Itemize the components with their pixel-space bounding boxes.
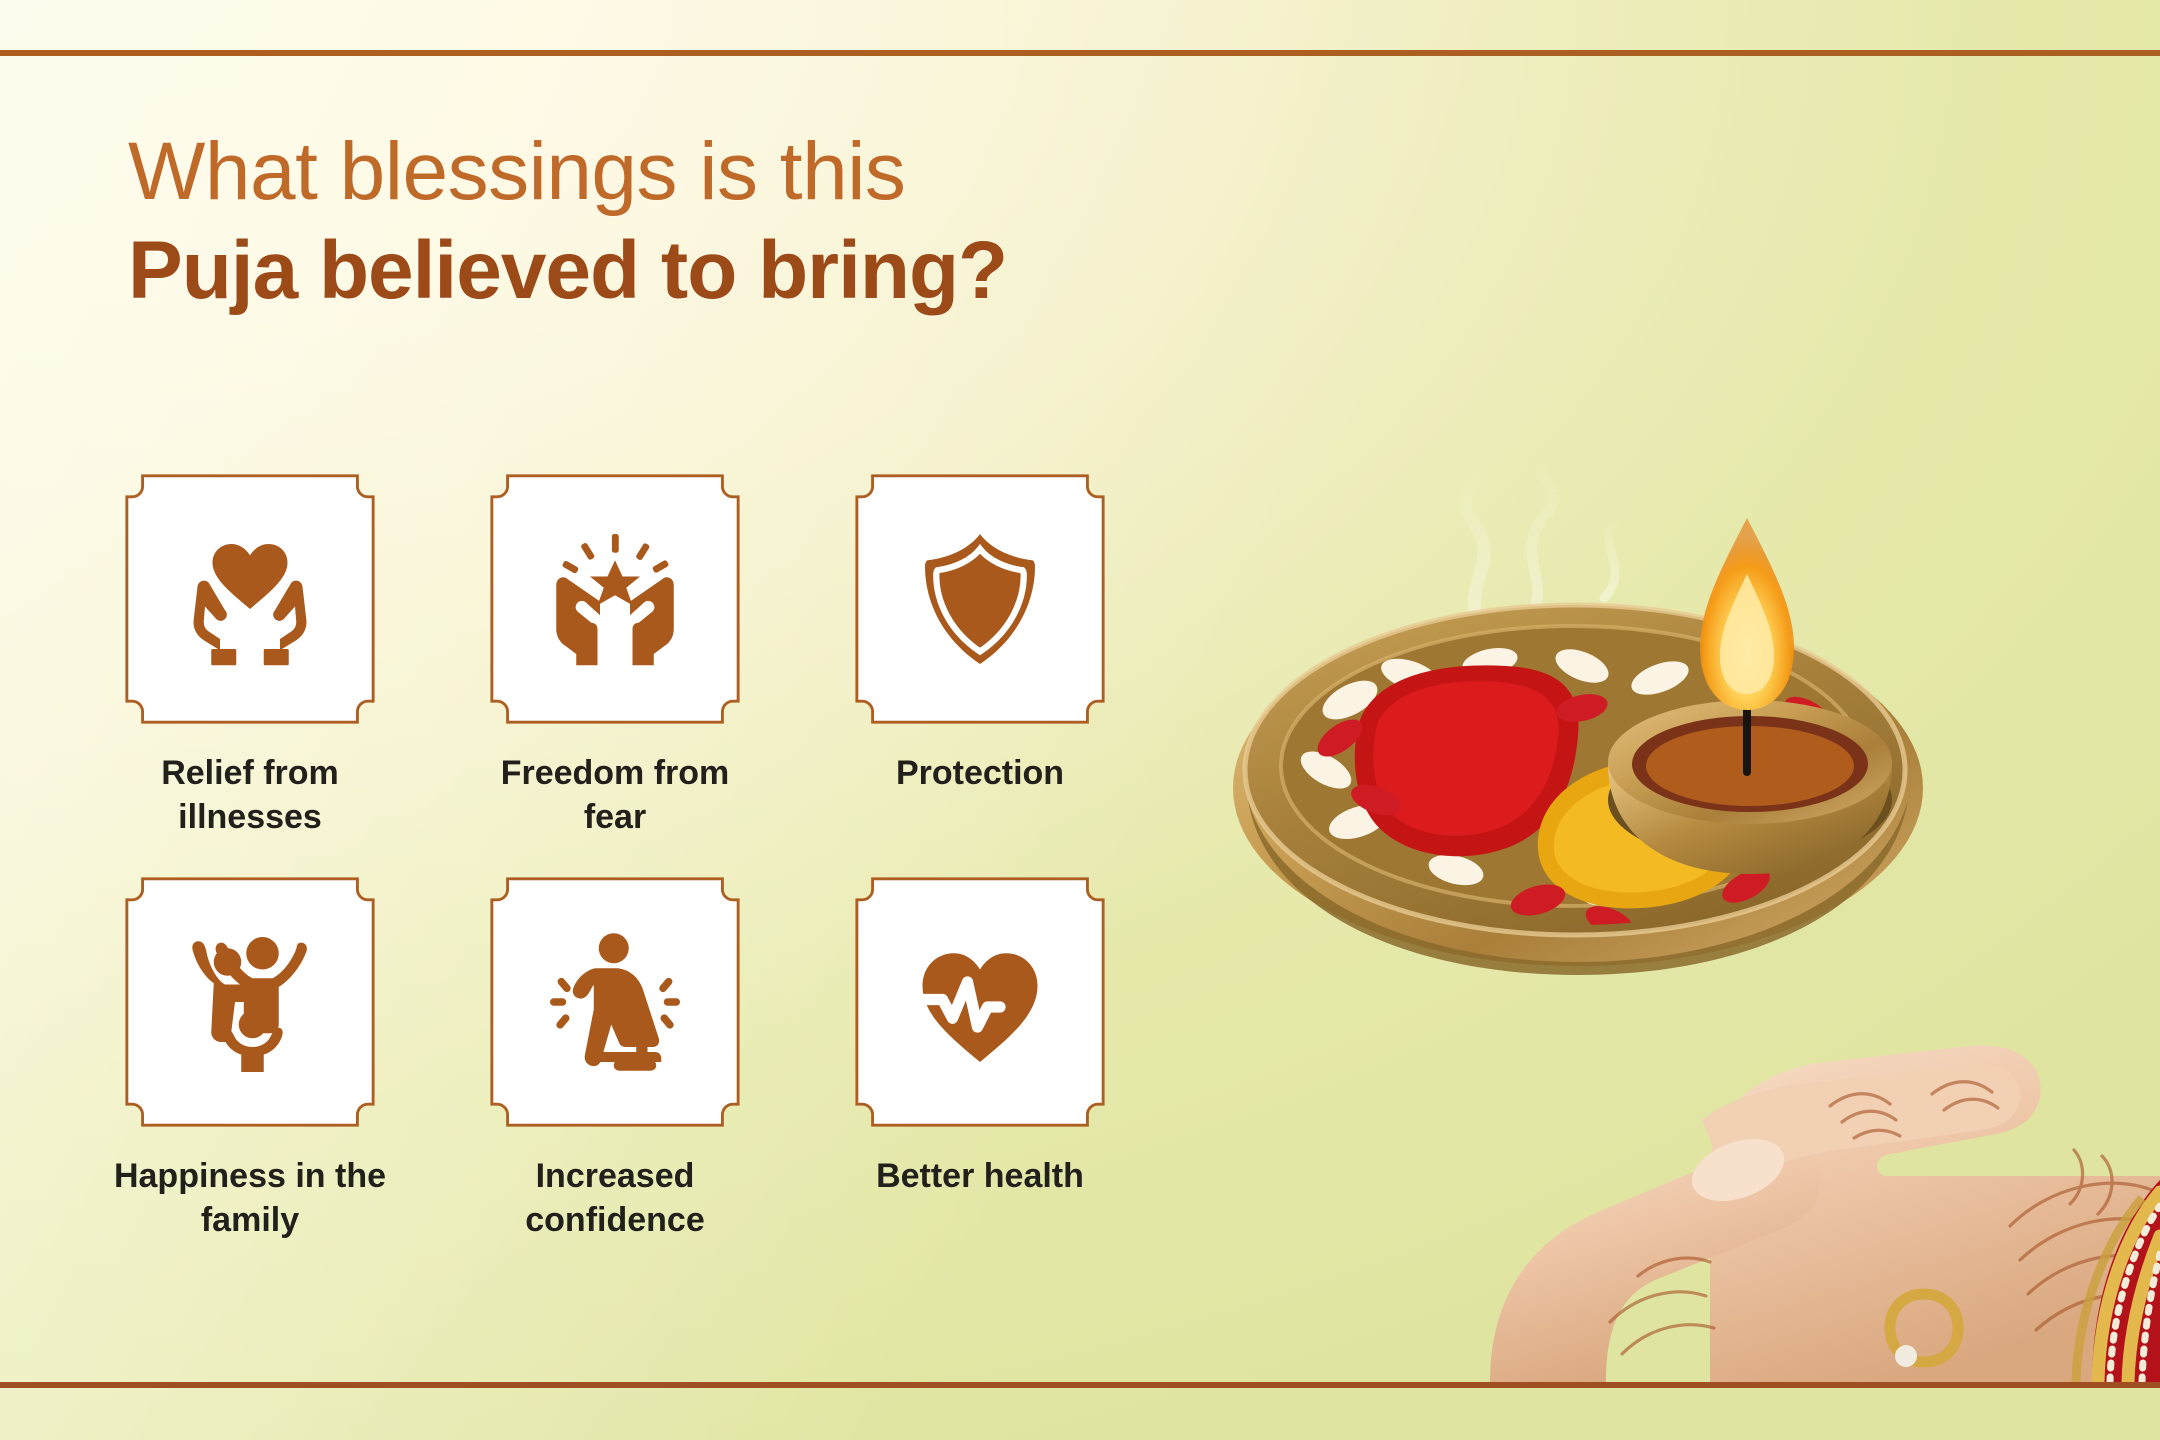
blessings-grid: Relief from illnesses <box>110 468 1190 1242</box>
top-divider-rule <box>0 50 2160 56</box>
blessing-item-increased-confidence[interactable]: Increased confidence <box>475 871 755 1242</box>
diya-flame <box>1700 518 1794 710</box>
heart-pulse-icon <box>905 927 1055 1077</box>
heading-line-2: Puja believed to bring? <box>128 227 1007 316</box>
blessing-item-freedom-from-fear[interactable]: Freedom from fear <box>475 468 755 839</box>
family-celebrating-icon <box>175 927 325 1077</box>
poster-canvas: What blessings is this Puja believed to … <box>0 0 2160 1440</box>
blessing-icon-card <box>484 871 746 1133</box>
blessing-label: Happiness in the family <box>110 1155 390 1242</box>
hands-holding-heart-icon <box>175 524 325 674</box>
blessing-label: Relief from illnesses <box>110 752 390 839</box>
shield-icon <box>905 524 1055 674</box>
page-title: What blessings is this Puja believed to … <box>128 128 1007 315</box>
hands-holding-star-icon <box>540 524 690 674</box>
blessing-item-better-health[interactable]: Better health <box>840 871 1120 1242</box>
heading-line-1: What blessings is this <box>128 128 1007 217</box>
blessing-icon-card <box>484 468 746 730</box>
puja-thali-photo <box>1190 470 2160 1382</box>
blessing-item-happiness-in-the-family[interactable]: Happiness in the family <box>110 871 390 1242</box>
puja-thali-illustration <box>1190 470 2160 1382</box>
blessing-item-protection[interactable]: Protection <box>840 468 1120 839</box>
blessing-item-relief-from-illnesses[interactable]: Relief from illnesses <box>110 468 390 839</box>
blessing-label: Better health <box>876 1155 1084 1199</box>
blessing-icon-card <box>119 871 381 1133</box>
henna-hand <box>1490 1045 2160 1382</box>
blessing-label: Protection <box>896 752 1064 796</box>
blessing-icon-card <box>849 871 1111 1133</box>
blessing-icon-card <box>119 468 381 730</box>
confident-person-icon <box>540 927 690 1077</box>
bottom-divider-rule <box>0 1382 2160 1388</box>
blessing-icon-card <box>849 468 1111 730</box>
blessing-label: Increased confidence <box>475 1155 755 1242</box>
blessing-label: Freedom from fear <box>475 752 755 839</box>
